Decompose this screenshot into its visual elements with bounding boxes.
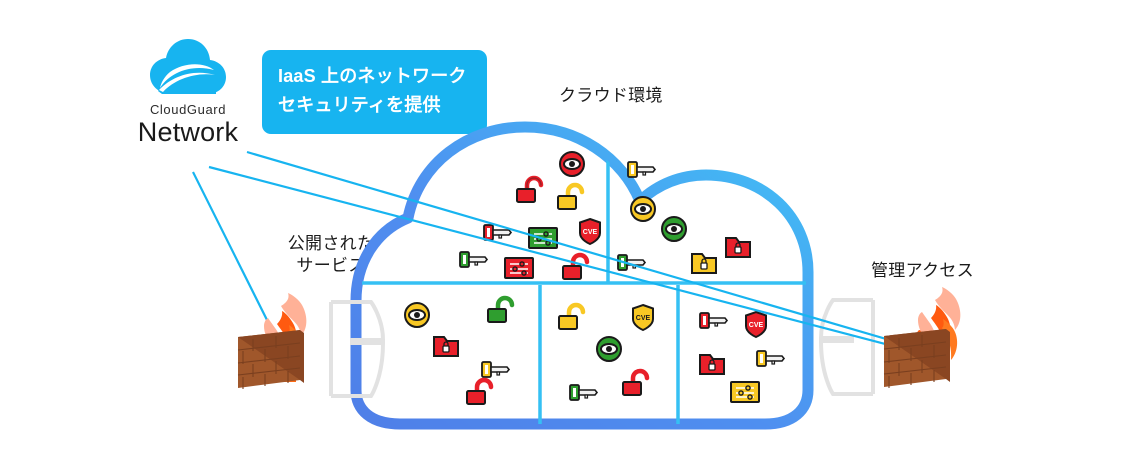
icon-eye-yellow <box>631 197 655 221</box>
firewall-right <box>884 287 960 388</box>
icon-eye-yellow-2 <box>405 303 429 327</box>
svg-text:CVE: CVE <box>749 322 764 329</box>
brick-wall-right-icon <box>884 329 950 388</box>
diagram-vector-layer: CVE <box>0 0 1148 470</box>
icon-key-yellow <box>628 162 655 177</box>
icon-eye-green-2 <box>597 337 621 361</box>
brick-wall-left-icon <box>238 330 304 389</box>
diagram-canvas: CloudGuard Network IaaS 上のネットワーク セキュリティを… <box>0 0 1148 470</box>
firewall-left <box>238 293 306 389</box>
svg-text:CVE: CVE <box>583 229 598 236</box>
icon-settings-card-yellow <box>731 382 759 402</box>
gate-right <box>821 300 873 394</box>
icon-shield-cve-red: CVE <box>580 219 600 244</box>
icon-eye-red <box>560 152 584 176</box>
icon-shield-cve-red-2: CVE <box>746 312 766 337</box>
svg-text:CVE: CVE <box>636 315 651 322</box>
icon-shield-cve-yellow: CVE <box>633 305 653 330</box>
icon-settings-card-red <box>505 258 533 278</box>
icon-eye-green <box>662 217 686 241</box>
